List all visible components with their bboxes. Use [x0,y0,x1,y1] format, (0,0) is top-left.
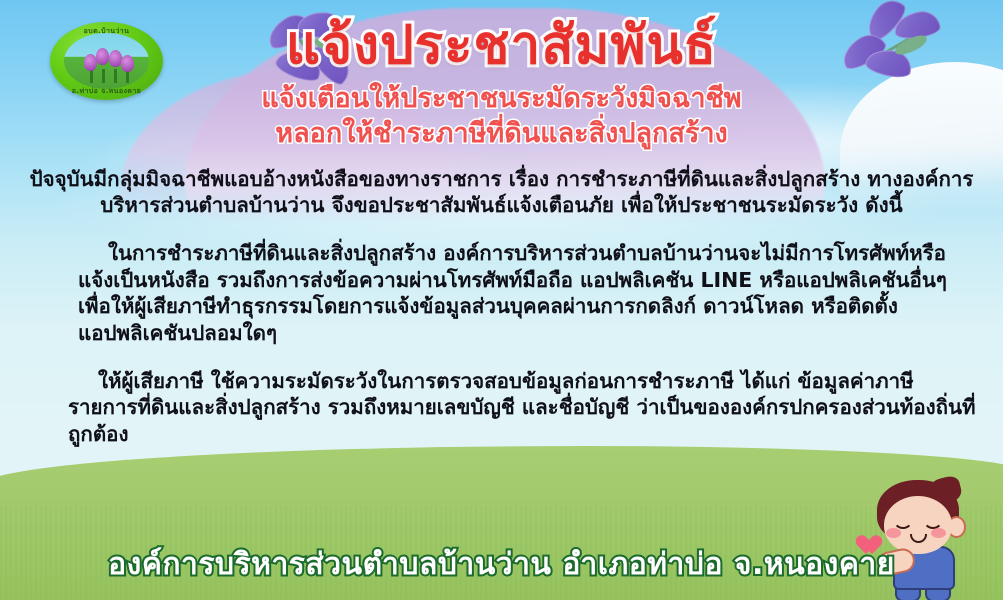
body-paragraph-2: ในการชำระภาษีที่ดินและสิ่งปลูกสร้าง องค์… [0,240,1003,347]
body-paragraph-3: ให้ผู้เสียภาษี ใช้ความระมัดระวังในการตรว… [0,368,1003,449]
page-title: แจ้งประชาสัมพันธ์ [0,18,1003,74]
boy-cheek-right [931,528,946,538]
announcement-poster: อบต.บ้านว่าน อ.ท่าบ่อ จ.หนองคาย แจ้งประช… [0,0,1003,600]
subtitle-line-1: แจ้งเตือนให้ประชาชนระมัดระวังมิจฉาชีพ [0,82,1003,117]
page-subtitle: แจ้งเตือนให้ประชาชนระมัดระวังมิจฉาชีพ หล… [0,82,1003,151]
footer-organization-name: องค์การบริหารส่วนตำบลบ้านว่าน อำเภอท่าบ่… [0,541,1003,588]
body-paragraph-1: ปัจจุบันมีกลุ่มมิจฉาชีพแอบอ้างหนังสือของ… [0,166,1003,220]
boy-cheek-left [886,528,901,538]
announcement-body: ปัจจุบันมีกลุ่มมิจฉาชีพแอบอ้างหนังสือของ… [0,145,1003,469]
